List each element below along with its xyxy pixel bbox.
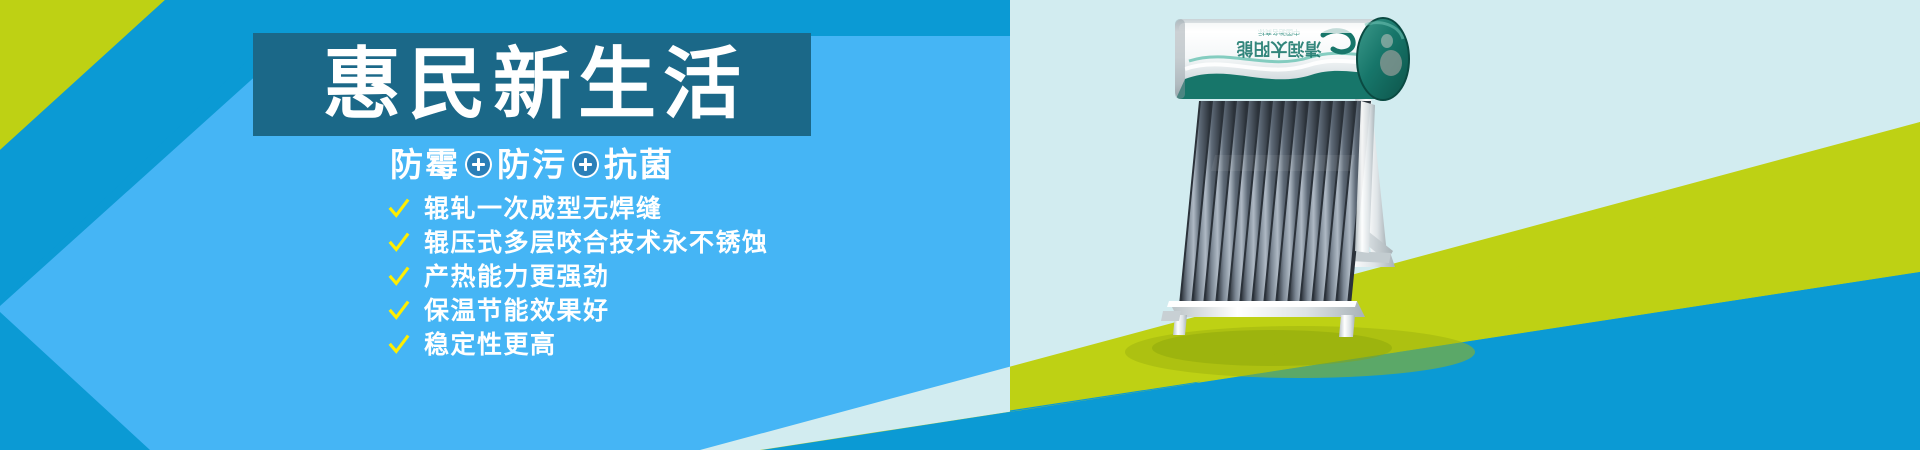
- list-item: 辊压式多层咬合技术永不锈蚀: [388, 230, 769, 255]
- product-image-solar-water-heater: 清润太阳能 中国驰名商标: [1155, 5, 1495, 365]
- promotional-banner: 惠民新生活 防霉 防污 抗菌 辊轧一次成型无焊缝 辊压式多层咬合技术永不锈蚀 产…: [0, 0, 1920, 450]
- list-item-label: 产热能力更强劲: [424, 264, 610, 289]
- feature-list: 辊轧一次成型无焊缝 辊压式多层咬合技术永不锈蚀 产热能力更强劲 保温节能效果好: [388, 196, 769, 357]
- evacuated-tubes: [1179, 101, 1371, 305]
- headline-panel: 惠民新生活: [253, 33, 811, 136]
- plus-circle-icon: [574, 153, 597, 176]
- water-tank: 清润太阳能 中国驰名商标: [1175, 18, 1409, 101]
- check-icon: [388, 198, 410, 220]
- solar-water-heater-illustration: 清润太阳能 中国驰名商标: [1155, 5, 1495, 365]
- subtitle-word-2: 防污: [497, 148, 567, 181]
- plus-circle-icon: [467, 153, 490, 176]
- check-icon: [388, 334, 410, 356]
- page-title: 惠民新生活: [316, 46, 748, 124]
- subtitle-word-3: 抗菌: [604, 148, 674, 181]
- subtitle-word-1: 防霉: [390, 148, 460, 181]
- list-item-label: 稳定性更高: [424, 332, 557, 357]
- check-icon: [388, 232, 410, 254]
- subtitle-row: 防霉 防污 抗菌: [253, 142, 811, 186]
- check-icon: [388, 300, 410, 322]
- list-item: 产热能力更强劲: [388, 264, 769, 289]
- list-item: 稳定性更高: [388, 332, 769, 357]
- list-item-label: 辊轧一次成型无焊缝: [424, 196, 663, 221]
- tank-brand-text: 清润太阳能: [1237, 38, 1322, 59]
- list-item-label: 辊压式多层咬合技术永不锈蚀: [424, 230, 769, 255]
- list-item: 辊轧一次成型无焊缝: [388, 196, 769, 221]
- list-item-label: 保温节能效果好: [424, 298, 610, 323]
- list-item: 保温节能效果好: [388, 298, 769, 323]
- check-icon: [388, 266, 410, 288]
